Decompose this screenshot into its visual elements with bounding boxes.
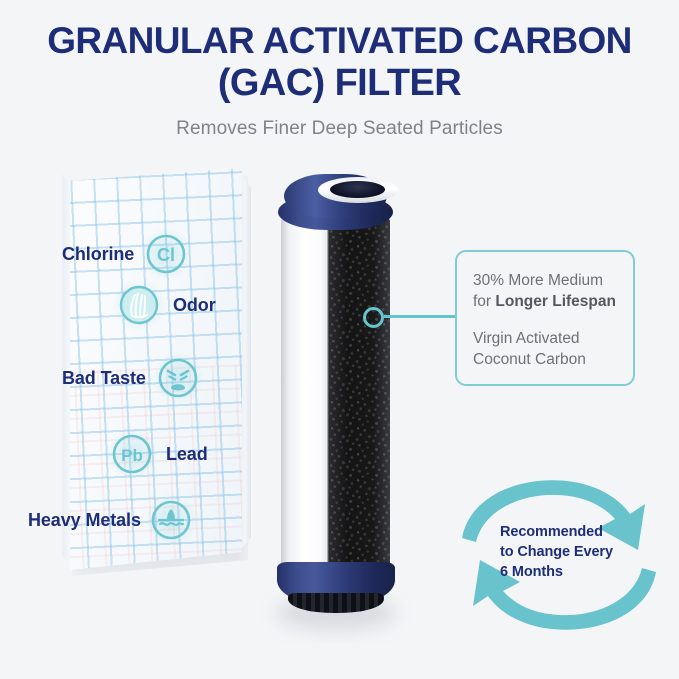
- svg-text:Cl: Cl: [157, 245, 175, 265]
- cartridge-cap-upper: [284, 174, 387, 218]
- granular-activated-carbon-cartridge: [262, 166, 412, 644]
- cycle-line-2: to Change Every: [500, 544, 613, 560]
- callout-line-3: Virgin Activated: [473, 330, 580, 347]
- callout-paragraph-1: 30% More Medium for Longer Lifespan: [473, 270, 617, 312]
- callout-paragraph-2: Virgin Activated Coconut Carbon: [473, 328, 617, 370]
- cycle-text: Recommended to Change Every 6 Months: [500, 522, 630, 582]
- cycle-line-3: 6 Months: [500, 564, 563, 580]
- contaminant-label: Bad Taste: [62, 368, 146, 389]
- callout-line-1: 30% More Medium: [473, 272, 603, 289]
- callout-line-2-bold: Longer Lifespan: [495, 293, 616, 310]
- contaminant-chlorine: Chlorine Cl: [62, 232, 188, 276]
- cartridge-cap-port-hole: [330, 181, 385, 198]
- callout-line-4: Coconut Carbon: [473, 351, 586, 368]
- contaminant-heavy-metals: Heavy Metals: [28, 498, 193, 542]
- contaminant-bad-taste: Bad Taste: [62, 356, 200, 400]
- heavy-metals-icon: [149, 498, 193, 542]
- feature-callout-box: 30% More Medium for Longer Lifespan Virg…: [455, 250, 635, 386]
- callout-marker-ring-icon: [363, 307, 384, 328]
- page-title-line-2: (GAC) FILTER: [0, 62, 679, 104]
- chlorine-cl-icon: Cl: [144, 232, 188, 276]
- lead-pb-icon: Pb: [110, 432, 154, 476]
- callout-connector-line: [384, 315, 458, 318]
- carbon-media-texture: [329, 218, 390, 594]
- contaminant-label: Lead: [166, 444, 208, 465]
- infographic-canvas: GRANULAR ACTIVATED CARBON (GAC) FILTER R…: [0, 0, 679, 679]
- page-title-line-1: GRANULAR ACTIVATED CARBON: [0, 20, 679, 62]
- contaminant-lead: Pb Lead: [110, 432, 208, 476]
- contaminant-label: Chlorine: [62, 244, 134, 265]
- page-subtitle: Removes Finer Deep Seated Particles: [0, 118, 679, 140]
- cartridge-body: [281, 218, 390, 594]
- contaminant-label: Odor: [173, 295, 216, 316]
- contaminant-odor: Odor: [117, 283, 216, 327]
- svg-text:Pb: Pb: [121, 446, 143, 465]
- contaminant-label: Heavy Metals: [28, 510, 141, 531]
- bad-taste-face-icon: [156, 356, 200, 400]
- odor-waves-icon: [117, 283, 161, 327]
- cycle-line-1: Recommended: [500, 524, 603, 540]
- header: GRANULAR ACTIVATED CARBON (GAC) FILTER R…: [0, 20, 679, 140]
- callout-line-2-prefix: for: [473, 293, 495, 310]
- replacement-cycle-badge: Recommended to Change Every 6 Months: [452, 472, 666, 638]
